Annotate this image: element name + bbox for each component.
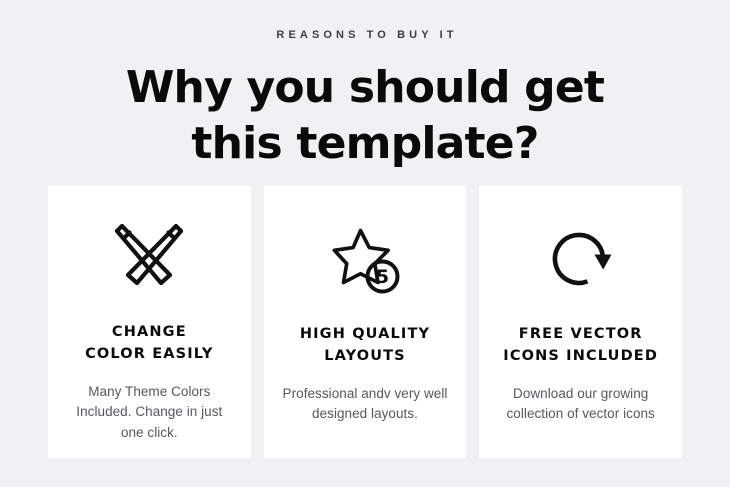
feature-card-high-quality-layouts[interactable]: 5 HIGH QUALITY LAYOUTS Professional andv… <box>264 186 467 458</box>
feature-card-title-line-2: LAYOUTS <box>300 346 430 368</box>
landing-section: REASONS TO BUY IT Why you should get thi… <box>0 0 730 487</box>
feature-card-title-line-2: COLOR EASILY <box>85 344 213 366</box>
feature-card-description: Download our growing collection of vecto… <box>495 384 666 426</box>
feature-card-list: CHANGE COLOR EASILY Many Theme Colors In… <box>48 186 682 458</box>
section-eyebrow: REASONS TO BUY IT <box>0 30 730 41</box>
feature-card-description: Many Theme Colors Included. Change in ju… <box>64 382 235 445</box>
feature-card-title-line-2: ICONS INCLUDED <box>503 346 658 368</box>
feature-card-title-line-1: FREE VECTOR <box>503 324 658 346</box>
page-title-line-1: Why you should get <box>0 60 730 116</box>
refresh-circle-arrow-icon <box>543 220 619 298</box>
page-title: Why you should get this template? <box>0 60 730 173</box>
feature-card-description: Professional andv very well designed lay… <box>280 384 451 426</box>
feature-card-free-vector-icons[interactable]: FREE VECTOR ICONS INCLUDED Download our … <box>479 186 682 458</box>
star-with-five-badge-icon: 5 <box>327 220 403 298</box>
feature-card-change-color-easily[interactable]: CHANGE COLOR EASILY Many Theme Colors In… <box>48 186 251 458</box>
page-title-line-2: this template? <box>0 116 730 172</box>
feature-card-title: FREE VECTOR ICONS INCLUDED <box>503 324 658 368</box>
feature-card-title: HIGH QUALITY LAYOUTS <box>300 324 430 368</box>
feature-card-title-line-1: CHANGE <box>85 322 213 344</box>
pencil-and-paintbrush-icon <box>111 220 187 296</box>
star-badge-value: 5 <box>376 266 389 288</box>
feature-card-title-line-1: HIGH QUALITY <box>300 324 430 346</box>
feature-card-title: CHANGE COLOR EASILY <box>85 322 213 366</box>
section-header: REASONS TO BUY IT Why you should get thi… <box>0 30 730 173</box>
